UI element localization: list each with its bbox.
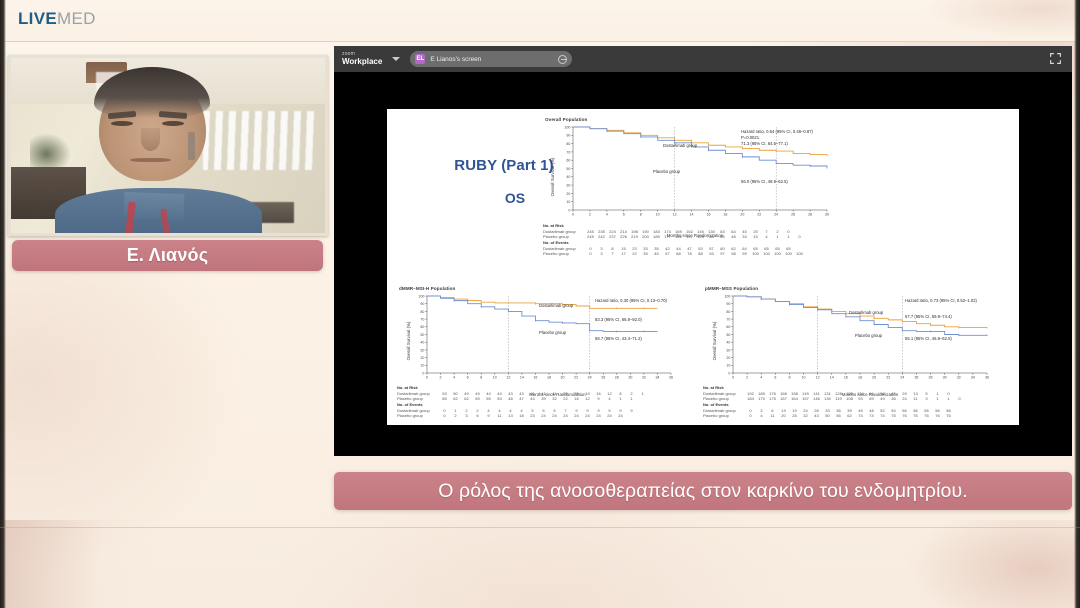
svg-text:20: 20 [740,213,744,217]
svg-text:0: 0 [572,213,574,217]
svg-text:18: 18 [858,376,862,380]
svg-text:28: 28 [808,213,812,217]
km-chart-pmmr-annotation-hr: Hazard ratio, 0.73 (95% CI, 0.52–1.02) [905,298,977,304]
km-chart-dmmr-ylabel: Overall Survival (%) [406,322,411,361]
workplace-wordmark: Workplace [342,58,382,66]
km-chart-overall-legend-placebo: Placebo group [653,169,680,175]
svg-text:100: 100 [418,294,424,298]
km-chart-dmmr-annotation-plac: 58.7 (95% CI, 43.4–71.2) [595,336,642,342]
svg-text:22: 22 [574,376,578,380]
fullscreen-icon[interactable] [1049,52,1062,65]
svg-text:60: 60 [726,325,730,329]
svg-text:8: 8 [480,376,482,380]
svg-text:24: 24 [774,213,778,217]
km-chart-dmmr-legend-placebo: Placebo group [539,330,566,336]
svg-text:12: 12 [506,376,510,380]
km-chart-overall-annotation-plac: 56.0 (95% CI, 48.9–62.5) [741,179,788,185]
svg-text:60: 60 [566,159,570,163]
svg-text:80: 80 [420,310,424,314]
brand-logo: LIVEMED [18,9,96,29]
svg-text:20: 20 [420,356,424,360]
svg-text:24: 24 [588,376,592,380]
svg-text:10: 10 [566,200,570,204]
shared-screen-tab[interactable]: EL E Lianos's screen [410,51,572,67]
presenter-name-banner: Ε. Λιανός [12,240,323,271]
svg-text:70: 70 [566,150,570,154]
svg-text:32: 32 [957,376,961,380]
svg-text:8: 8 [640,213,642,217]
km-chart-dmmr-risk-table: No. at RiskDostarlimab group535049494444… [397,385,648,419]
svg-text:30: 30 [726,348,730,352]
svg-text:32: 32 [642,376,646,380]
presenter-name: Ε. Λιανός [127,245,209,266]
km-chart-overall-annotation-dost: 71.3 (95% CI, 64.5–77.1) [741,141,788,147]
km-chart-pmmr-annotation-dost: 67.7 (95% CI, 59.8–74.4) [905,314,952,320]
svg-text:30: 30 [825,213,829,217]
svg-text:26: 26 [914,376,918,380]
svg-text:10: 10 [726,364,730,368]
svg-text:20: 20 [561,376,565,380]
avatar: EL [415,54,425,64]
screen-share-window[interactable]: zoom Workplace EL E Lianos's screen RUBY… [334,46,1072,456]
page-edge-left [0,0,6,608]
km-chart-pmmr-annotation-plac: 55.1 (95% CI, 46.8–62.5) [905,336,952,342]
km-chart-pmmr-risk-table: No. at RiskDostarlimab group192185176168… [703,385,965,419]
km-chart-pmmr-ylabel: Overall Survival (%) [712,322,717,361]
svg-text:90: 90 [726,302,730,306]
live-stream-page: LIVEMED Ε. Λιανός [0,0,1080,608]
svg-text:40: 40 [726,341,730,345]
svg-text:28: 28 [929,376,933,380]
svg-text:8: 8 [788,376,790,380]
svg-text:26: 26 [601,376,605,380]
svg-text:12: 12 [816,376,820,380]
presenter-earphone [188,132,194,160]
svg-text:2: 2 [440,376,442,380]
km-chart-pmmr-title: pMMR–MSS Population [705,286,758,291]
svg-text:30: 30 [566,184,570,188]
svg-text:0: 0 [732,376,734,380]
svg-text:6: 6 [774,376,776,380]
presenter-video[interactable] [11,58,325,233]
svg-text:60: 60 [420,325,424,329]
svg-text:50: 50 [420,333,424,337]
svg-text:4: 4 [453,376,455,380]
km-chart-dmmr-title: dMMR–MSI-H Population [399,286,455,291]
page-edge-right [1074,0,1080,608]
svg-text:14: 14 [520,376,524,380]
svg-text:0: 0 [568,208,570,212]
svg-text:28: 28 [615,376,619,380]
svg-text:16: 16 [533,376,537,380]
svg-text:100: 100 [564,125,570,129]
km-chart-overall-risk-table: No. at RiskDostarlimab group245235224214… [543,223,805,257]
screen-share-toolbar[interactable]: zoom Workplace EL E Lianos's screen [334,46,1072,72]
svg-text:0: 0 [728,371,730,375]
km-chart-pmmr-legend-dostarlimab: Dostarlimab group [849,310,883,316]
svg-text:30: 30 [420,348,424,352]
km-chart-overall-title: Overall Population [545,117,587,122]
km-chart-dmmr-annotation-dost: 83.3 (95% CI, 66.8–92.0) [595,317,642,323]
shared-screen-tab-label: E Lianos's screen [430,56,558,63]
svg-text:14: 14 [830,376,834,380]
presenter-nose [141,128,160,151]
svg-text:30: 30 [943,376,947,380]
brand-live-text: LIVE [18,9,57,28]
svg-text:20: 20 [566,192,570,196]
svg-text:24: 24 [900,376,904,380]
svg-text:2: 2 [589,213,591,217]
svg-text:6: 6 [623,213,625,217]
svg-text:4: 4 [606,213,608,217]
km-chart-dmmr-legend-dostarlimab: Dostarlimab group [539,303,573,309]
svg-text:6: 6 [467,376,469,380]
svg-text:90: 90 [420,302,424,306]
svg-text:70: 70 [420,318,424,322]
km-chart-overall: Overall Population Overall Survival (%) … [545,117,845,237]
svg-text:22: 22 [757,213,761,217]
km-chart-dmmr-annotation-hr: Hazard ratio, 0.30 (95% CI, 0.13–0.70) [595,298,667,304]
svg-text:18: 18 [547,376,551,380]
svg-text:12: 12 [673,213,677,217]
svg-text:80: 80 [726,310,730,314]
km-chart-pmmr: pMMR–MSS Population Overall Survival (%)… [705,286,1005,396]
presentation-slide: RUBY (Part 1) OS Overall Population Over… [387,109,1019,425]
subtitle-banner: Ο ρόλος της ανοσοθεραπείας στον καρκίνο … [334,472,1072,510]
svg-text:0: 0 [422,371,424,375]
svg-text:34: 34 [971,376,975,380]
svg-text:2: 2 [746,376,748,380]
svg-text:0: 0 [426,376,428,380]
svg-text:30: 30 [628,376,632,380]
svg-text:10: 10 [420,364,424,368]
svg-text:40: 40 [420,341,424,345]
svg-text:16: 16 [706,213,710,217]
svg-text:4: 4 [760,376,762,380]
svg-text:36: 36 [669,376,673,380]
chevron-down-icon[interactable] [392,57,400,61]
svg-text:36: 36 [985,376,989,380]
video-background-window [203,111,316,171]
km-chart-overall-plot: 0102030405060708090100024681012141618202… [559,124,831,222]
close-icon[interactable] [558,55,567,64]
svg-text:50: 50 [566,167,570,171]
svg-text:22: 22 [886,376,890,380]
km-chart-dmmr: dMMR–MSI-H Population Overall Survival (… [399,286,687,396]
svg-text:10: 10 [656,213,660,217]
video-background-plant [30,133,71,168]
conference-banner: 12o χρόνια Πανελλήνιο Συνέδριο Τα νέα φά… [0,527,1080,608]
svg-text:16: 16 [844,376,848,380]
svg-text:34: 34 [655,376,659,380]
svg-text:80: 80 [566,142,570,146]
svg-text:14: 14 [690,213,694,217]
km-chart-overall-ylabel: Overall Survival (%) [550,158,555,197]
svg-text:90: 90 [566,134,570,138]
svg-text:10: 10 [493,376,497,380]
svg-text:50: 50 [726,333,730,337]
svg-text:18: 18 [723,213,727,217]
svg-text:20: 20 [726,356,730,360]
svg-text:40: 40 [566,175,570,179]
screen-share-content: RUBY (Part 1) OS Overall Population Over… [334,72,1072,456]
svg-text:10: 10 [802,376,806,380]
brand-med-text: MED [57,9,96,28]
km-chart-pmmr-legend-placebo: Placebo group [855,333,882,339]
zoom-workplace-logo: zoom Workplace [342,52,382,66]
svg-text:100: 100 [724,294,730,298]
presenter-video-frame[interactable] [8,55,328,236]
svg-text:20: 20 [872,376,876,380]
svg-text:70: 70 [726,318,730,322]
top-frame [0,0,1080,42]
subtitle-text: Ο ρόλος της ανοσοθεραπείας στον καρκίνο … [438,480,968,503]
km-chart-overall-legend-dostarlimab: Dostarlimab group [663,143,697,149]
svg-text:26: 26 [791,213,795,217]
top-decoration [820,0,1080,42]
